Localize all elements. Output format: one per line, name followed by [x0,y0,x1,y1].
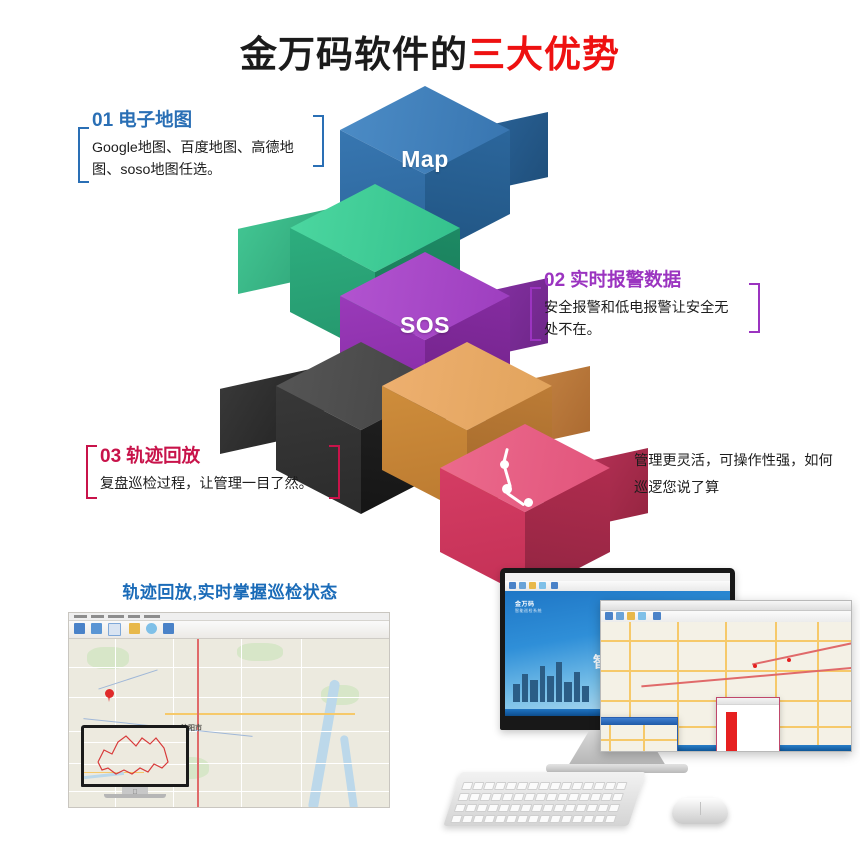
map-highway-orange [165,713,355,715]
alarm-dialog-titlebar[interactable] [717,698,779,705]
map-window-titlebar[interactable] [601,601,851,611]
toolbar-icon-5[interactable] [146,623,157,634]
mon-toolbar-icon-5[interactable] [551,582,558,589]
mon-toolbar-icon-3[interactable] [529,582,536,589]
imac-bezel [81,725,189,787]
bracket-right-01 [313,115,324,167]
bracket-left-03 [86,445,97,499]
map-park-1 [87,647,129,669]
map-road-v3 [241,639,242,808]
trajectory-path [84,728,186,784]
map-screenshot: 沈阳市 [68,612,390,808]
bottom-left-caption: 轨迹回放,实时掌握巡检状态 [0,578,460,603]
desktop-computer-illustration: 金万码 智能巡检系统 智能 [440,558,860,848]
feature-block-03: 03轨迹回放 复盘巡检过程，让管理一目了然。 [86,444,336,499]
feature-01-number: 01 [92,110,113,131]
mouse[interactable] [672,798,728,824]
feature-block-01: 01电子地图 Google地图、百度地图、高德地图、soso地图任选。 [78,108,324,183]
app-logo: 金万码 智能巡检系统 [515,599,542,614]
feature-03-body: 复盘巡检过程，让管理一目了然。 [100,473,320,495]
w2-icon-4[interactable] [638,612,646,620]
keyboard[interactable] [443,772,646,826]
map-window-large[interactable] [600,600,852,752]
w2-icon-5[interactable] [653,612,661,620]
app-logo-subtext: 智能巡检系统 [515,608,542,614]
toolbar-icon-3[interactable] [108,623,121,636]
map-road-h2 [69,697,390,698]
feature-01-body: Google地图、百度地图、高德地图、soso地图任选。 [92,137,308,181]
feature-02-title: 实时报警数据 [570,269,681,290]
map-menubar [69,613,389,621]
page-title: 金万码软件的三大优势 [0,24,860,78]
toolbar-icon-2[interactable] [91,623,102,634]
cube-map-label: Map [340,146,510,173]
promo-page: 金万码软件的三大优势 Map SOS [0,0,860,858]
feature-03-bodywrap: 复盘巡检过程，让管理一目了然。 [86,473,336,499]
route-waypoint-3 [524,498,533,507]
map-road-v4 [301,639,302,808]
route-waypoint-2 [502,484,512,494]
monitor-toolbar[interactable] [505,581,730,591]
imac-inset:  [81,725,189,801]
bracket-right-02 [749,283,760,333]
cube-sos-label: SOS [340,312,510,339]
route-trajectory-icon [490,448,562,520]
toolbar-icon-6[interactable] [163,623,174,634]
map-river-2 [340,735,358,808]
map-canvas[interactable]: 沈阳市 [69,639,389,808]
route-waypoint-1 [500,460,509,469]
mon-toolbar-icon-2[interactable] [519,582,526,589]
map-window-small-canvas[interactable] [600,725,677,752]
map-marker-pin[interactable] [105,689,114,702]
feature-01-heading: 01电子地图 [92,108,324,133]
map-road-h1 [69,667,390,668]
bracket-left-01 [78,127,89,183]
map-window-small[interactable] [600,717,678,752]
w2-icon-3[interactable] [627,612,635,620]
w2-icon-2[interactable] [616,612,624,620]
bracket-left-02 [530,287,541,341]
skyline-graphic [513,658,591,702]
mon-toolbar-icon-1[interactable] [509,582,516,589]
feature-02-body: 安全报警和低电报警让安全无处不在。 [544,297,742,341]
mon-toolbar-icon-4[interactable] [539,582,546,589]
feature-03-title: 轨迹回放 [126,445,200,466]
imac-screen [84,728,186,784]
feature-block-02: 02实时报警数据 安全报警和低电报警让安全无处不在。 [530,268,758,343]
page-title-red: 三大优势 [468,34,620,75]
side-note: 管理更灵活，可操作性强，如何巡逻您说了算 [634,448,838,502]
feature-02-heading: 02实时报警数据 [544,268,758,293]
map-road-blue-2 [98,669,157,689]
page-title-black: 金万码软件的 [240,34,468,75]
apple-logo-icon:  [132,789,137,796]
alarm-dialog[interactable] [716,697,780,752]
toolbar-icon-4[interactable] [129,623,140,634]
map-toolbar[interactable] [69,621,389,639]
feature-01-bodywrap: Google地图、百度地图、高德地图、soso地图任选。 [78,137,324,183]
map-window-small-titlebar[interactable] [600,718,677,725]
alarm-bar-indicator [726,712,737,752]
w2-icon-1[interactable] [605,612,613,620]
feature-02-bodywrap: 安全报警和低电报警让安全无处不在。 [530,297,758,343]
bracket-right-03 [329,445,340,499]
feature-02-number: 02 [544,270,565,291]
feature-03-heading: 03轨迹回放 [100,444,336,469]
feature-03-number: 03 [100,446,121,467]
toolbar-icon-1[interactable] [74,623,85,634]
feature-01-title: 电子地图 [118,109,192,130]
map-park-2 [237,643,283,661]
monitor-menubar [505,573,730,581]
